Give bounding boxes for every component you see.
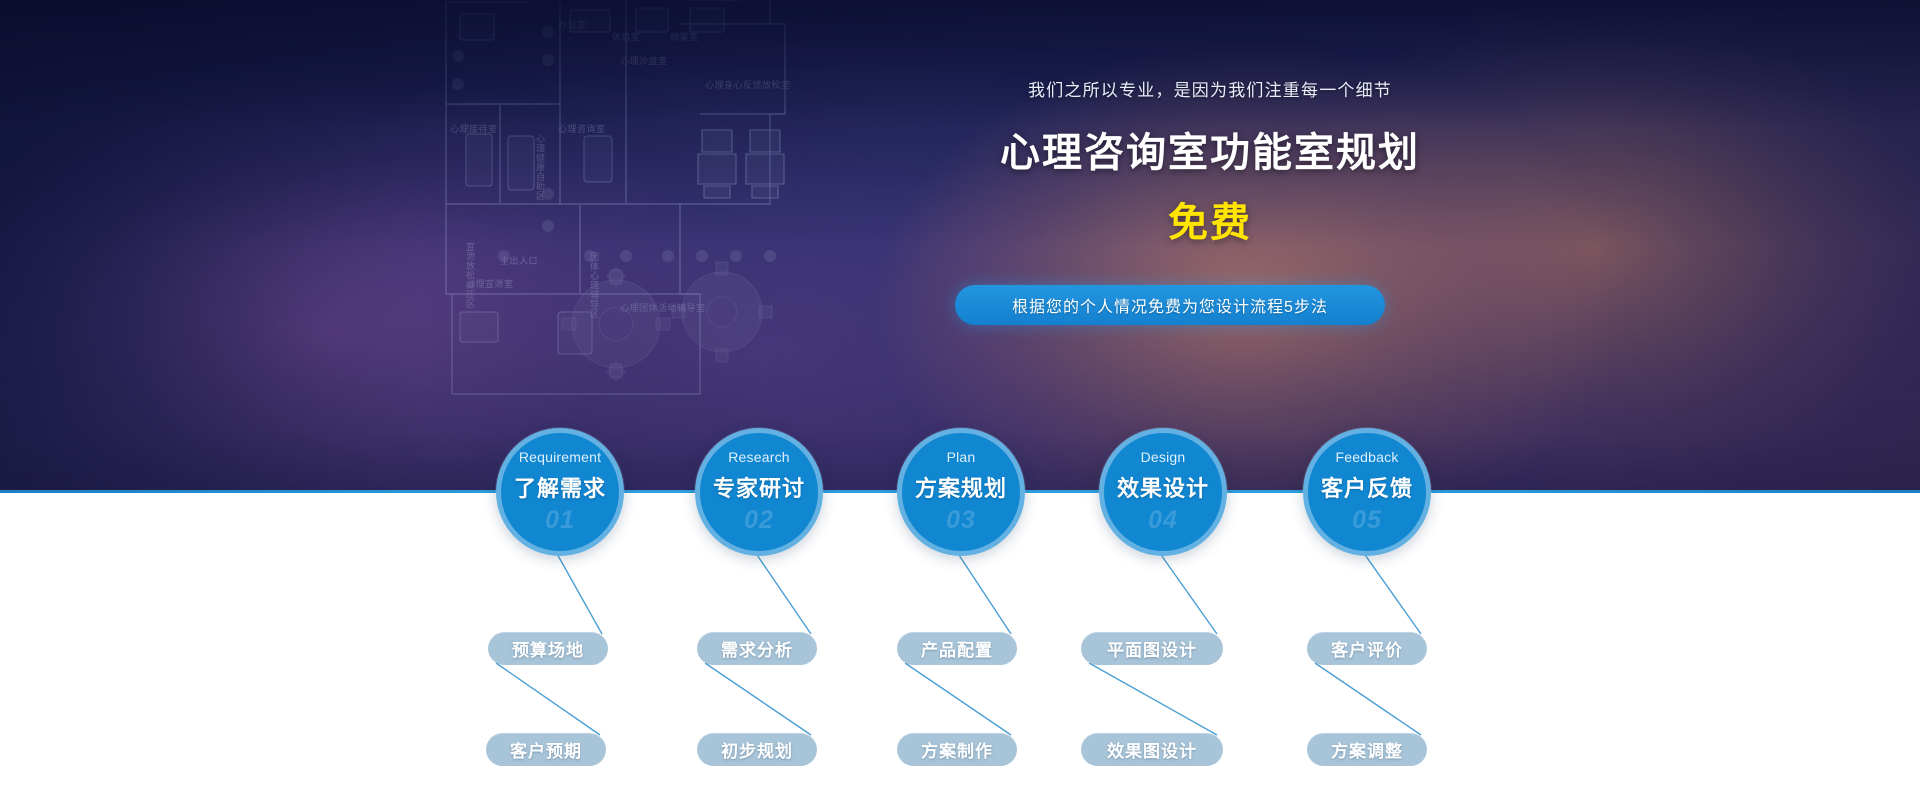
step-label-cn: 方案规划 bbox=[915, 471, 1007, 503]
step-label-cn: 了解需求 bbox=[514, 471, 606, 503]
tag-pill[interactable]: 预算场地 bbox=[488, 632, 608, 665]
tag-pill[interactable]: 需求分析 bbox=[697, 632, 817, 665]
step-circle-02[interactable]: Research专家研讨02 bbox=[695, 428, 823, 556]
step-number: 04 bbox=[1148, 506, 1178, 535]
step-circle-03[interactable]: Plan方案规划03 bbox=[897, 428, 1025, 556]
step-number: 02 bbox=[744, 506, 774, 535]
step-label-en: Feedback bbox=[1335, 449, 1398, 465]
tag-pill[interactable]: 平面图设计 bbox=[1081, 632, 1223, 665]
tag-pill[interactable]: 初步规划 bbox=[697, 733, 817, 766]
process-steps-container: Requirement了解需求01Research专家研讨02Plan方案规划0… bbox=[0, 0, 1920, 810]
step-circle-05[interactable]: Feedback客户反馈05 bbox=[1303, 428, 1431, 556]
tag-pill[interactable]: 客户评价 bbox=[1307, 632, 1427, 665]
step-label-en: Research bbox=[728, 449, 790, 465]
tag-pill[interactable]: 产品配置 bbox=[897, 632, 1017, 665]
step-label-cn: 专家研讨 bbox=[713, 471, 805, 503]
tag-pill[interactable]: 效果图设计 bbox=[1081, 733, 1223, 766]
step-label-en: Design bbox=[1141, 449, 1186, 465]
step-circle-01[interactable]: Requirement了解需求01 bbox=[496, 428, 624, 556]
step-number: 05 bbox=[1352, 506, 1382, 535]
tag-pill[interactable]: 客户预期 bbox=[486, 733, 606, 766]
step-label-en: Requirement bbox=[519, 449, 601, 465]
step-number: 01 bbox=[545, 506, 575, 535]
step-label-en: Plan bbox=[947, 449, 976, 465]
tag-pill[interactable]: 方案制作 bbox=[897, 733, 1017, 766]
step-number: 03 bbox=[946, 506, 976, 535]
step-circle-04[interactable]: Design效果设计04 bbox=[1099, 428, 1227, 556]
step-label-cn: 客户反馈 bbox=[1321, 471, 1413, 503]
step-label-cn: 效果设计 bbox=[1117, 471, 1209, 503]
tag-pill[interactable]: 方案调整 bbox=[1307, 733, 1427, 766]
